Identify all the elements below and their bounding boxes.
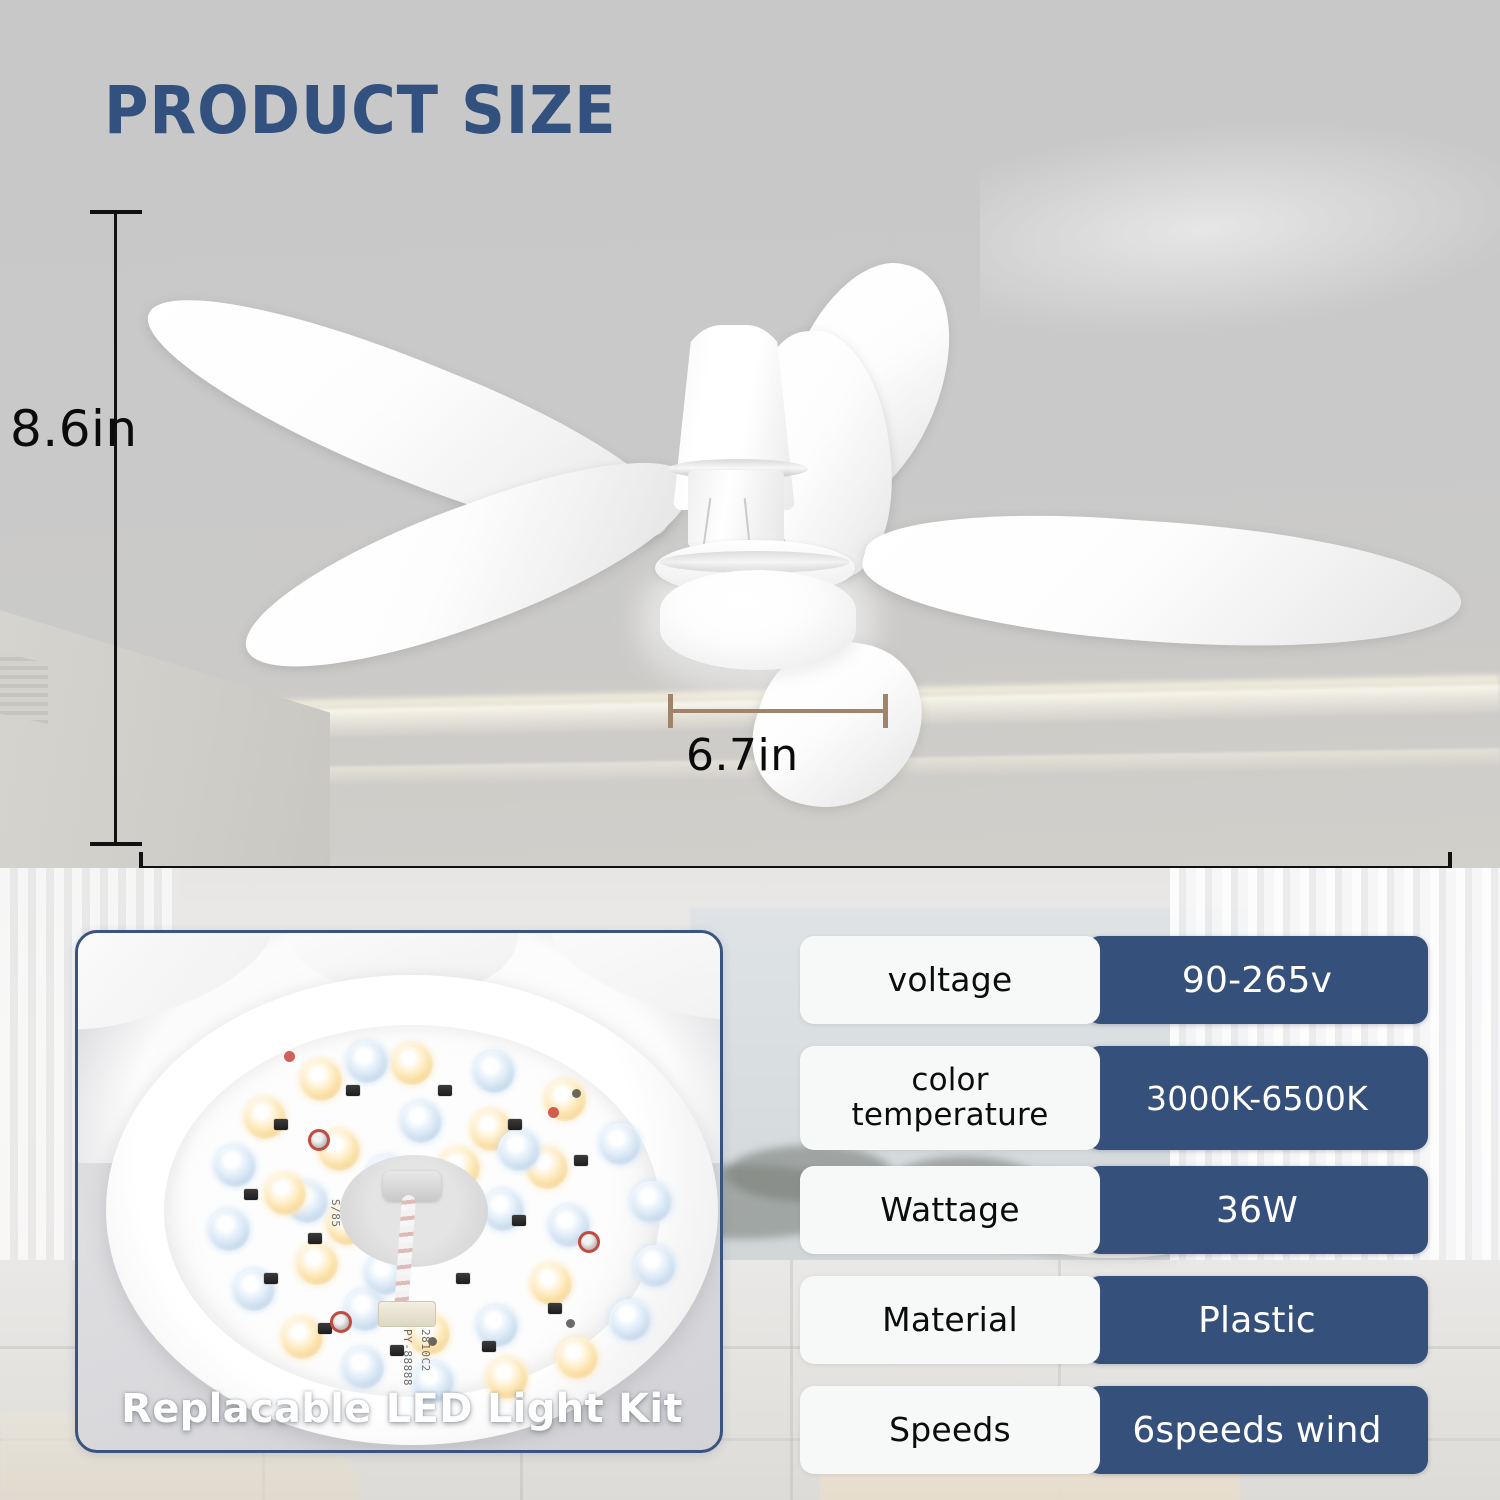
smd-component [438, 1085, 452, 1096]
spec-value-label: Plastic [1198, 1300, 1316, 1341]
led-lamp [599, 1123, 641, 1165]
led-lamp [296, 1243, 338, 1285]
spec-key-voltage: voltage [800, 936, 1100, 1024]
light-kit-dimension-cap-left [668, 694, 673, 728]
smd-component [482, 1341, 496, 1352]
led-lamp [214, 1145, 256, 1187]
polarity-marker [284, 1051, 295, 1062]
led-lamp [300, 1059, 342, 1101]
height-dimension-label: 8.6in [10, 400, 138, 458]
globe-highlight [690, 585, 800, 619]
spec-value-label: 3000K-6500K [1146, 1079, 1368, 1118]
spec-key-color-temperature: color temperature [800, 1046, 1100, 1150]
page-title: PRODUCT SIZE [104, 72, 617, 149]
led-lamp [630, 1181, 672, 1223]
spec-key-speeds: Speeds [800, 1386, 1100, 1474]
pcb-marking-batch: 2810C2 [419, 1329, 432, 1372]
mounting-screw [578, 1231, 600, 1253]
spec-key-label: Wattage [880, 1192, 1020, 1229]
spec-key-label: color temperature [851, 1063, 1048, 1132]
led-lamp [556, 1337, 598, 1379]
led-lamp [244, 1097, 286, 1139]
led-lamp [473, 1051, 515, 1093]
height-dimension-cap-top [90, 210, 142, 214]
smd-component [548, 1303, 562, 1314]
spec-row-color-temperature: color temperature 3000K-6500K [800, 1046, 1428, 1150]
led-lamp [281, 1317, 323, 1359]
spec-value-label: 36W [1216, 1190, 1298, 1231]
pcb-marking-model: PY-88888 [401, 1329, 414, 1386]
spec-row-material: Material Plastic [800, 1276, 1428, 1364]
spec-value-wattage: 36W [1086, 1166, 1428, 1254]
height-dimension-line [114, 212, 117, 846]
spec-value-label: 90-265v [1182, 960, 1332, 1001]
spec-key-line-2: temperature [851, 1097, 1048, 1133]
light-kit-dimension-cap-right [883, 694, 888, 728]
smd-component [308, 1233, 322, 1244]
light-kit-dimension-label: 6.7in [686, 730, 799, 781]
led-lamp [609, 1299, 651, 1341]
pcb-marking-rev: S/85 [329, 1199, 342, 1228]
specification-table: voltage 90-265v color temperature 3000K-… [800, 936, 1428, 1496]
spec-key-material: Material [800, 1276, 1100, 1364]
spec-value-material: Plastic [1086, 1276, 1428, 1364]
led-lamp [498, 1129, 540, 1171]
spec-row-wattage: Wattage 36W [800, 1166, 1428, 1254]
smd-component [456, 1273, 470, 1284]
polarity-marker [548, 1107, 559, 1118]
spec-key-label: Speeds [889, 1412, 1011, 1449]
smd-component [346, 1085, 360, 1096]
spec-key-line-1: color [911, 1062, 988, 1098]
smd-component [244, 1189, 258, 1200]
infographic-canvas: 8.6in 6.7in 48in PRODUCT SIZE [0, 0, 1500, 1500]
smd-component [574, 1155, 588, 1166]
spec-value-label: 6speeds wind [1132, 1410, 1381, 1451]
led-lamp [342, 1347, 384, 1389]
spec-row-speeds: Speeds 6speeds wind [800, 1386, 1428, 1474]
fan-downrod-collar [688, 470, 784, 548]
smd-component [274, 1119, 288, 1130]
fan-blade-3 [848, 502, 1476, 662]
light-kit-dimension-line [668, 709, 888, 713]
led-lamp [400, 1101, 442, 1143]
spec-value-speeds: 6speeds wind [1086, 1386, 1428, 1474]
inset-caption: Replacable LED Light Kit [78, 1386, 723, 1432]
led-lamp [264, 1173, 306, 1215]
spec-value-color-temperature: 3000K-6500K [1086, 1046, 1428, 1150]
spec-key-label: voltage [888, 962, 1013, 999]
spec-key-wattage: Wattage [800, 1166, 1100, 1254]
mounting-screw [308, 1129, 330, 1151]
smd-component [508, 1119, 522, 1130]
led-lamp [391, 1043, 433, 1085]
led-lamp [530, 1263, 572, 1305]
led-lamp [208, 1209, 250, 1251]
led-light-kit-inset: PY-88888 2810C2 S/85 Replacable LED Ligh… [75, 930, 723, 1453]
smd-component [512, 1215, 526, 1226]
mounting-screw [330, 1311, 352, 1333]
spec-row-voltage: voltage 90-265v [800, 936, 1428, 1024]
spec-key-label: Material [882, 1302, 1018, 1339]
board-marker [572, 1089, 581, 1098]
led-lamp [346, 1041, 388, 1083]
led-wire-connector [378, 1301, 436, 1327]
smd-component [264, 1273, 278, 1284]
spec-value-voltage: 90-265v [1086, 936, 1428, 1024]
led-lamp [634, 1245, 676, 1287]
board-marker [566, 1319, 575, 1328]
height-dimension-cap-bottom [90, 842, 142, 846]
